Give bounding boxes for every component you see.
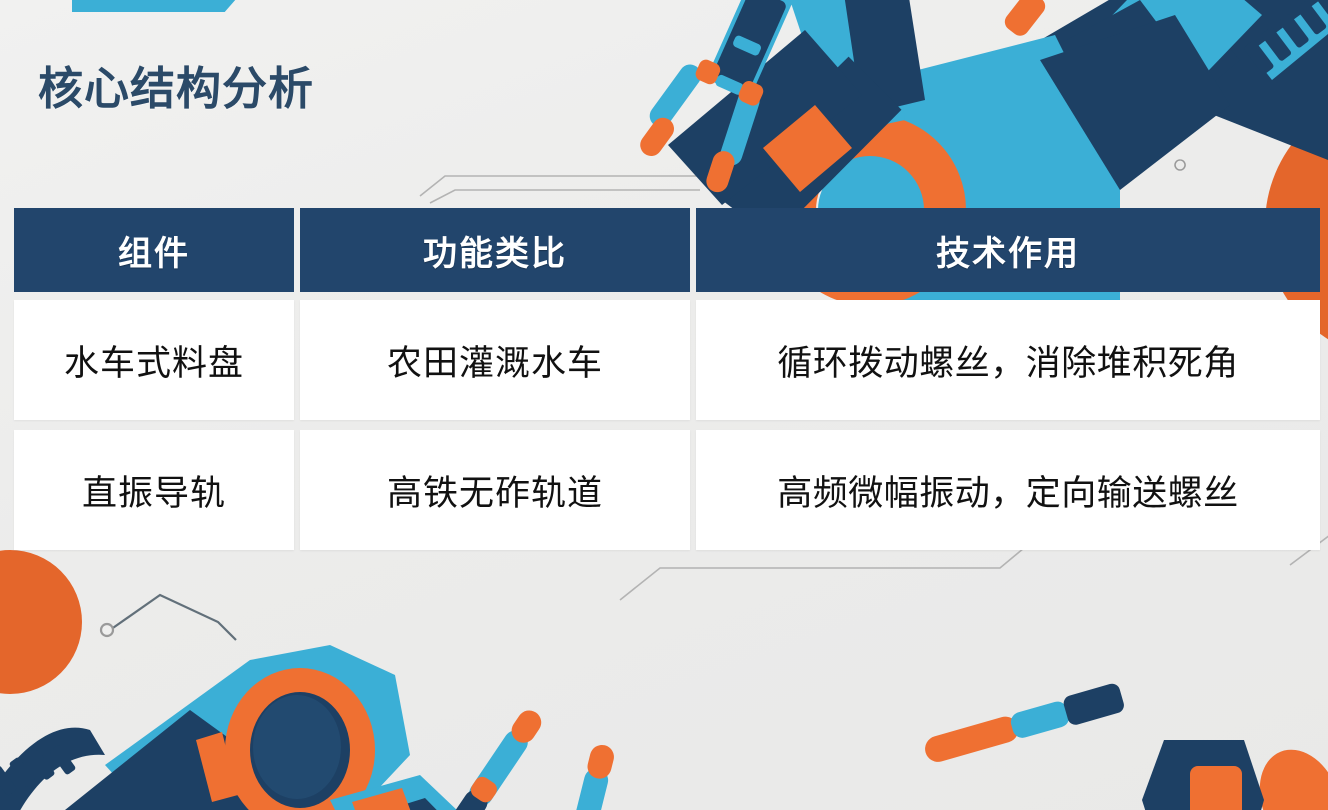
- cell-analogy: 农田灌溉水车: [300, 300, 690, 420]
- ribbed-cable-top: [1243, 0, 1328, 80]
- page-title: 核心结构分析: [38, 64, 314, 114]
- cell-component: 直振导轨: [14, 430, 294, 550]
- table-row: 直振导轨 高铁无砟轨道 高频微幅振动，定向输送螺丝: [14, 430, 1314, 550]
- table-row: 水车式料盘 农田灌溉水车 循环拨动螺丝，消除堆积死角: [14, 300, 1314, 420]
- core-structure-table: 组件 功能类比 技术作用 水车式料盘 农田灌溉水车 循环拨动螺丝，消除堆积死角 …: [14, 208, 1314, 560]
- top-cyan-banner: [72, 0, 238, 12]
- orange-circle-bottom-left: [0, 550, 82, 694]
- gripper-finger-upper: [921, 682, 1125, 767]
- cell-analogy: 高铁无砟轨道: [300, 430, 690, 550]
- bottom-left-robot-arm-illustration: [0, 645, 633, 810]
- ribbed-cable-bottom-left: [0, 728, 105, 810]
- slide-canvas: 核心结构分析 组件 功能类比 技术作用 水车式料盘 农田灌溉水车 循环拨动螺丝，…: [0, 0, 1328, 810]
- cell-component: 水车式料盘: [14, 300, 294, 420]
- table-header-component: 组件: [14, 208, 294, 292]
- table-header-function: 技术作用: [696, 208, 1320, 292]
- cell-function: 高频微幅振动，定向输送螺丝: [696, 430, 1320, 550]
- table-header-analogy: 功能类比: [300, 208, 690, 292]
- cell-function: 循环拨动螺丝，消除堆积死角: [696, 300, 1320, 420]
- table-header-row: 组件 功能类比 技术作用: [14, 208, 1314, 292]
- bottom-right-robot-gripper-illustration: [921, 595, 1328, 810]
